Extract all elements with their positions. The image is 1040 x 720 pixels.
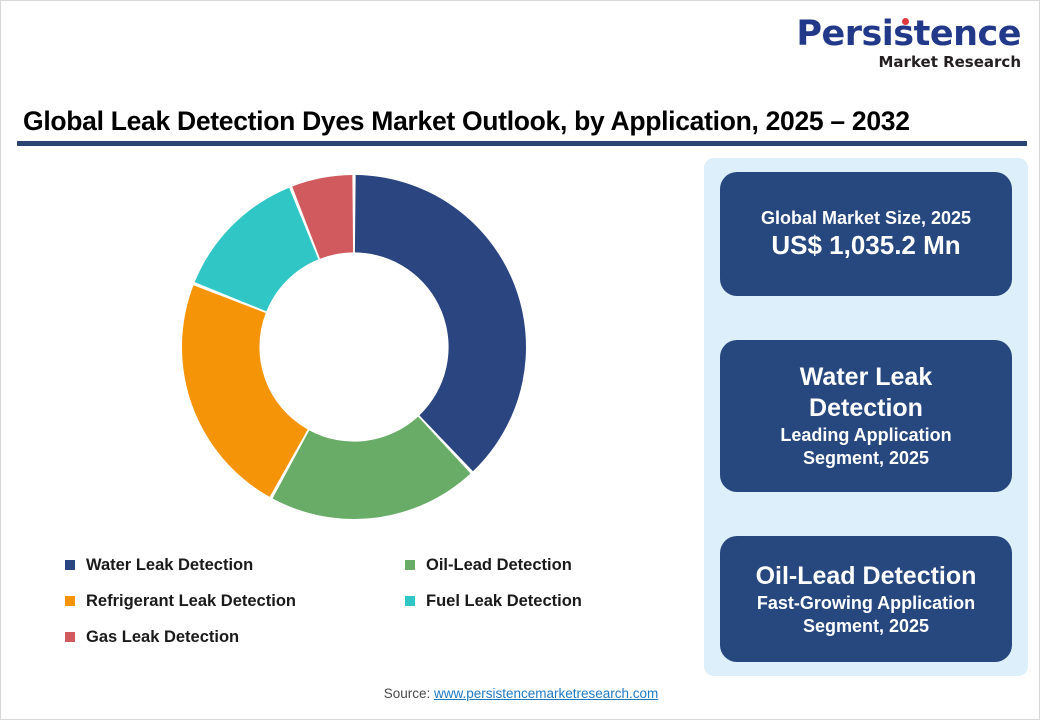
kpi-card-fastest-segment: Oil-Lead Detection Fast-Growing Applicat… [720,536,1012,662]
infographic-page: Persistence Market Research Global Leak … [0,0,1040,720]
legend-item-label: Gas Leak Detection [86,628,239,647]
legend-swatch-icon [65,560,75,570]
legend-item[interactable]: Water Leak Detection [65,547,405,583]
legend-item[interactable]: Gas Leak Detection [65,619,405,655]
kpi-card-heading-line1: Water Leak [800,362,932,393]
chart-legend: Water Leak DetectionOil-Lead DetectionRe… [65,547,685,655]
legend-item[interactable]: Refrigerant Leak Detection [65,583,405,619]
kpi-card-market-size: Global Market Size, 2025 US$ 1,035.2 Mn [720,172,1012,296]
legend-swatch-icon [405,560,415,570]
legend-item[interactable]: Oil-Lead Detection [405,547,685,583]
kpi-card-sub-line1: Fast-Growing Application [757,592,975,615]
donut-slice[interactable] [195,188,319,312]
legend-swatch-icon [405,596,415,606]
kpi-card-sub-line2: Segment, 2025 [803,615,929,638]
legend-swatch-icon [65,632,75,642]
legend-swatch-icon [65,596,75,606]
donut-slices [182,175,526,519]
donut-chart [179,172,529,522]
kpi-card-sub-line2: Segment, 2025 [803,447,929,470]
kpi-card-heading: Oil-Lead Detection [756,561,977,592]
source-label: Source: [384,686,434,701]
kpi-card-sub-line1: Leading Application [780,424,951,447]
kpi-card-heading: Global Market Size, 2025 [761,207,971,230]
company-logo: Persistence Market Research [781,17,1021,70]
title-divider [17,141,1027,146]
source-footer: Source: www.persistencemarketresearch.co… [1,686,1040,701]
kpi-card-value: US$ 1,035.2 Mn [771,230,960,261]
legend-item[interactable]: Fuel Leak Detection [405,583,685,619]
chart-area [31,156,691,546]
legend-item-label: Oil-Lead Detection [426,556,572,575]
logo-wordmark: Persistence [796,17,1021,52]
page-title: Global Leak Detection Dyes Market Outloo… [23,106,1023,137]
donut-slice[interactable] [182,285,308,497]
legend-item-label: Water Leak Detection [86,556,253,575]
donut-slice[interactable] [355,175,526,471]
kpi-panel: Global Market Size, 2025 US$ 1,035.2 Mn … [704,158,1028,676]
source-link[interactable]: www.persistencemarketresearch.com [434,686,658,701]
logo-tagline: Market Research [781,55,1021,70]
kpi-card-heading-line2: Detection [809,393,923,424]
legend-item-label: Refrigerant Leak Detection [86,592,296,611]
legend-item-label: Fuel Leak Detection [426,592,582,611]
kpi-card-leading-segment: Water Leak Detection Leading Application… [720,340,1012,492]
